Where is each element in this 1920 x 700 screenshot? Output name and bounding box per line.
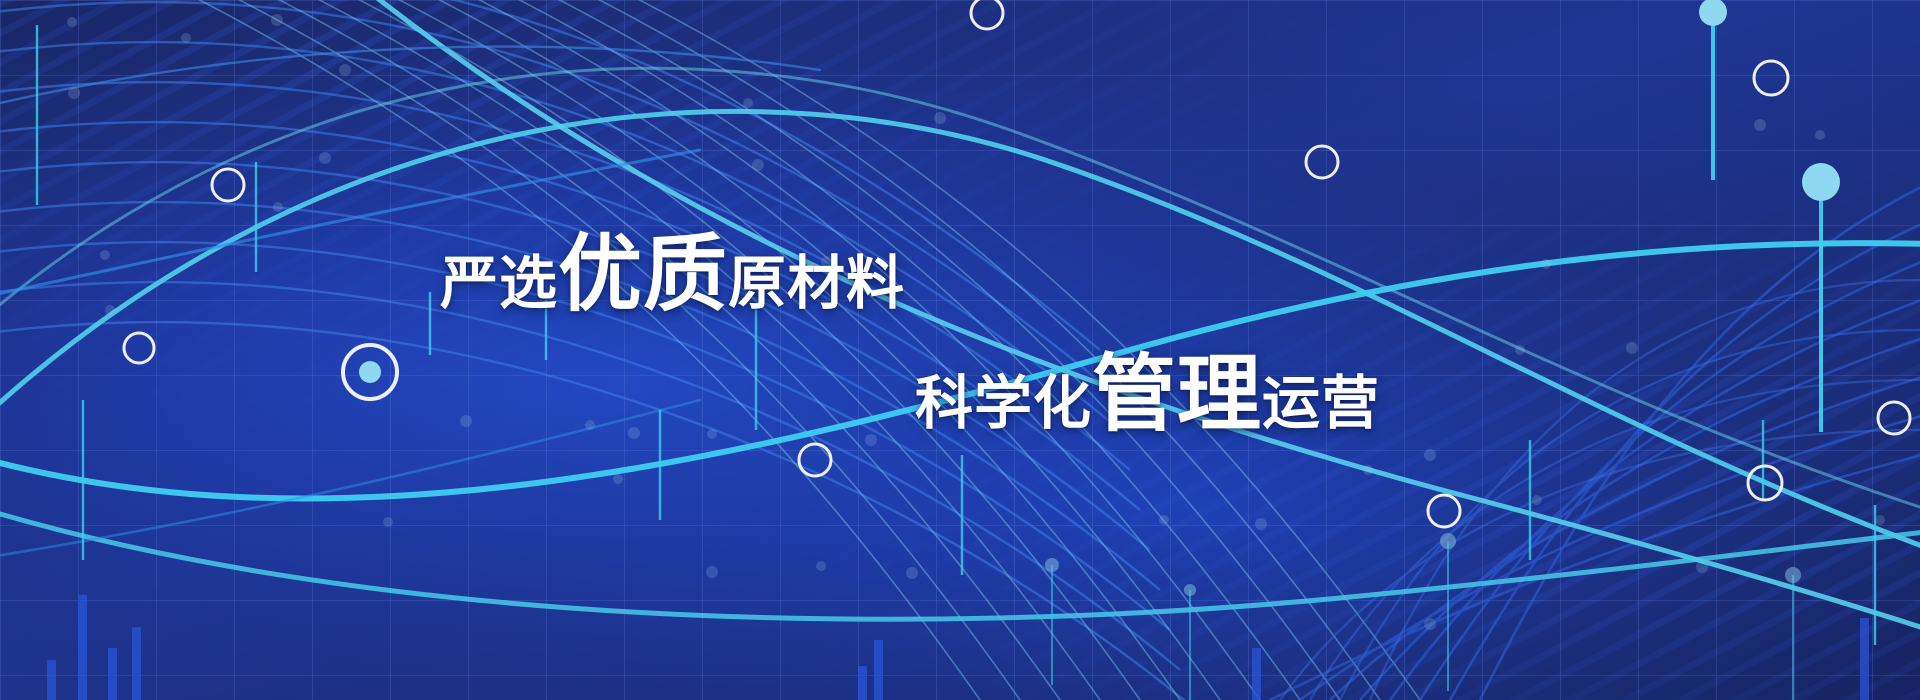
soft-dot	[1875, 515, 1885, 525]
pin-head	[1045, 558, 1059, 572]
soft-dot	[613, 474, 623, 484]
soft-dot	[273, 202, 283, 212]
soft-dot	[585, 420, 595, 430]
soft-dot	[1696, 561, 1708, 573]
mini-bar	[1252, 648, 1261, 700]
ring-marker	[1748, 466, 1782, 500]
soft-dot	[1424, 449, 1436, 461]
pin-markers-group	[1045, 0, 1840, 700]
ring-marker	[1306, 146, 1338, 178]
mini-bar	[132, 627, 141, 700]
soft-dot	[67, 17, 77, 27]
soft-dot	[271, 14, 283, 26]
pin-head	[1785, 567, 1801, 583]
ring-markers-group	[124, 0, 1910, 527]
mini-bar	[47, 660, 56, 700]
soft-dot	[181, 33, 191, 43]
soft-dot	[1532, 495, 1542, 505]
soft-dot	[706, 566, 718, 578]
mini-bars-group	[47, 595, 1869, 700]
pin-head	[1699, 0, 1727, 26]
soft-dot	[339, 64, 351, 76]
mini-bar	[108, 648, 117, 700]
mini-bar	[78, 595, 87, 700]
soft-dot	[1754, 119, 1766, 131]
soft-dot	[1065, 395, 1075, 405]
soft-dot	[707, 429, 717, 439]
soft-dot	[383, 517, 393, 527]
mini-bar	[858, 666, 867, 700]
ring-marker	[971, 0, 1003, 29]
ring-marker	[1878, 402, 1910, 434]
soft-dot	[1815, 130, 1825, 140]
banner-root: 严选优质原材料 科学化管理运营	[0, 0, 1920, 700]
decor-layer	[0, 0, 1920, 700]
soft-dot	[1515, 345, 1525, 355]
soft-dot	[752, 159, 764, 171]
soft-dots-group	[67, 14, 1885, 630]
soft-dot	[1363, 465, 1373, 475]
soft-dot	[1159, 515, 1169, 525]
ring-marker-dot	[359, 361, 381, 383]
ring-marker	[1428, 495, 1460, 527]
soft-dot	[68, 87, 80, 99]
soft-dot	[105, 305, 115, 315]
soft-dot	[906, 567, 918, 579]
ring-marker	[1754, 61, 1788, 95]
soft-dot	[934, 112, 946, 124]
soft-dot	[1541, 259, 1551, 269]
soft-dot	[460, 415, 472, 427]
soft-dot	[821, 256, 833, 268]
ring-marker	[799, 444, 831, 476]
mini-bar	[874, 640, 883, 700]
soft-dot	[100, 250, 110, 260]
soft-dot	[535, 300, 545, 310]
soft-dot	[1255, 518, 1267, 530]
soft-dot	[743, 98, 753, 108]
soft-dot	[628, 427, 640, 439]
soft-dot	[1424, 618, 1436, 630]
pin-head	[1184, 584, 1196, 596]
pin-head	[1802, 163, 1840, 201]
tick-lines-group	[37, 25, 1875, 645]
soft-dot	[1626, 342, 1638, 354]
soft-dot	[816, 561, 826, 571]
soft-dot	[319, 152, 331, 164]
mini-bar	[1860, 618, 1869, 700]
pin-head	[1440, 533, 1456, 549]
soft-dot	[865, 434, 877, 446]
ring-marker	[212, 169, 244, 201]
ring-marker	[124, 333, 154, 363]
